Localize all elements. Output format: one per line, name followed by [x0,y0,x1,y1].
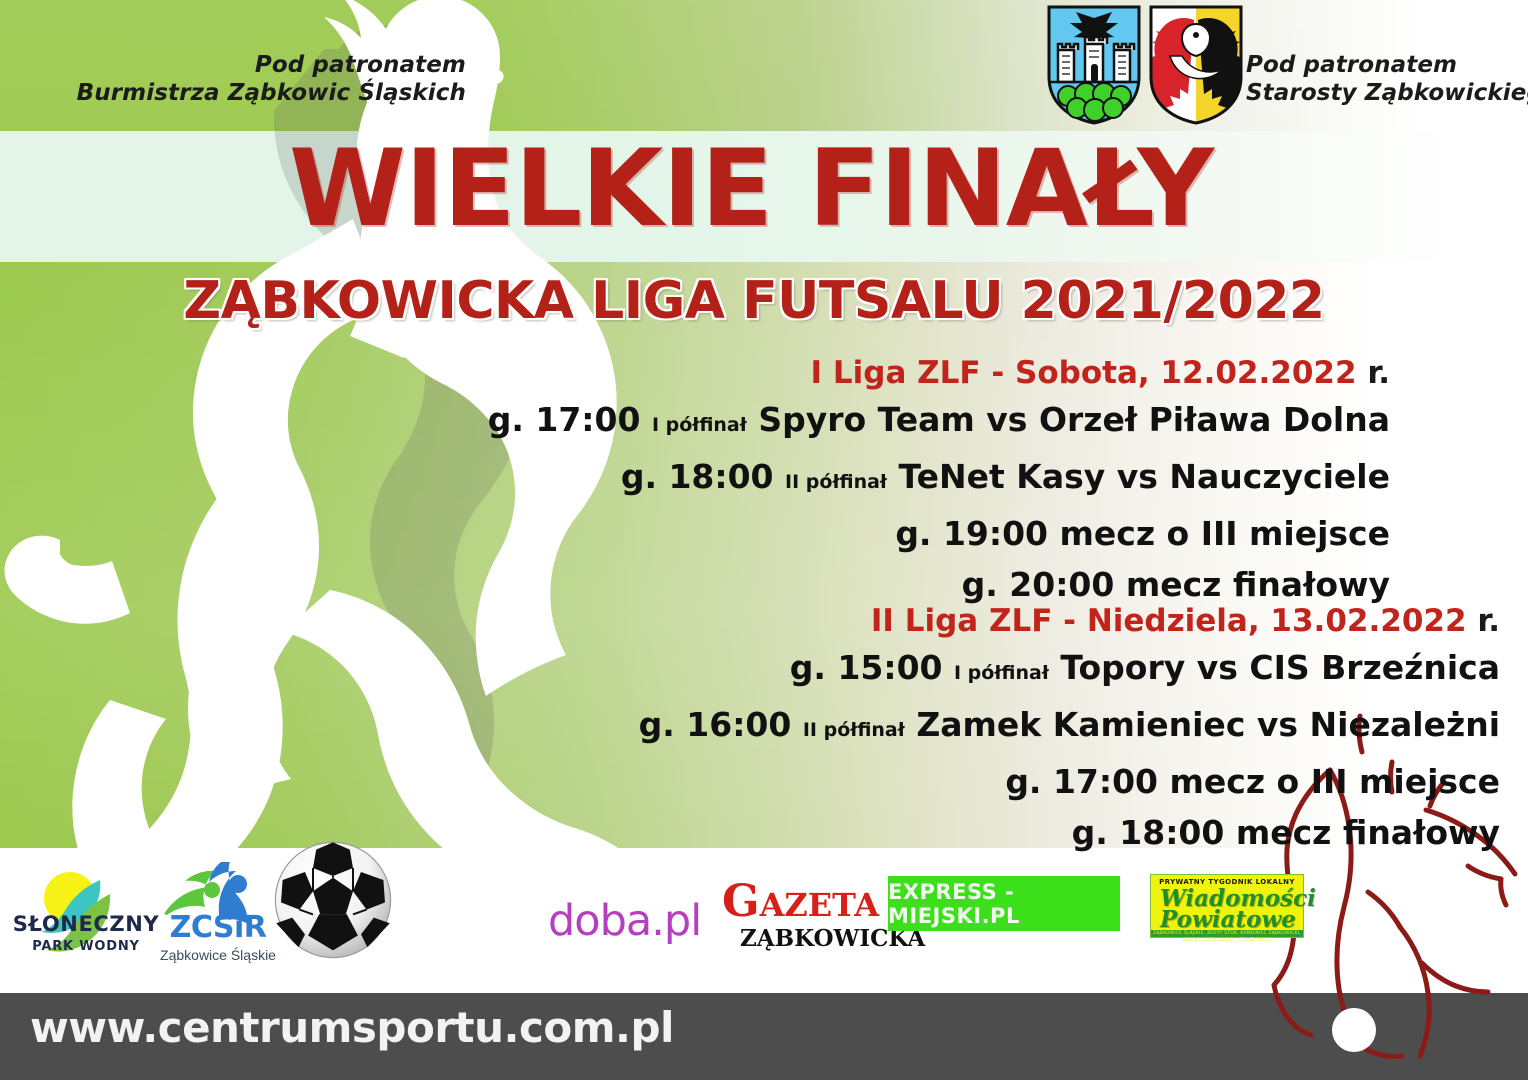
match-stage: I półfinał [652,414,747,436]
league-2-heading-text: II Liga ZLF - Niedziela, 13.02.2022 [871,603,1467,639]
match-time: g. 20:00 [962,565,1115,604]
league-1-heading-tail: r. [1367,355,1390,391]
patronage-left: Pod patronatem Burmistrza Ząbkowic Śląsk… [77,52,466,106]
match-stage: I półfinał [954,662,1049,684]
league-2-heading: II Liga ZLF - Niedziela, 13.02.2022 r. [0,600,1500,642]
match-row: g. 19:00 mecz o III miejsce [0,508,1390,559]
doba-pl-logo[interactable]: doba.pl [548,896,701,946]
page-subtitle: ZĄBKOWICKA LIGA FUTSALU 2021/2022 [0,272,1528,330]
schedule-league-1: I Liga ZLF - Sobota, 12.02.2022 r. g. 17… [0,352,1390,610]
patronage-right-line-2: Starosty Ząbkowickiego [1246,80,1528,106]
schedule-league-2: II Liga ZLF - Niedziela, 13.02.2022 r. g… [0,600,1500,858]
match-row: g. 17:00 mecz o III miejsce [0,756,1500,807]
page-title: WIELKIE FINAŁY [0,133,1528,245]
match-time: g. 19:00 [895,514,1048,553]
patronage-left-line-1: Pod patronatem [255,52,466,78]
match-teams: mecz o III miejsce [1060,514,1390,553]
match-time: g. 17:00 [1005,762,1158,801]
poster-root: Pod patronatem Burmistrza Ząbkowic Śląsk… [0,0,1528,1080]
wiadomosci-footer-text: ZĄBKOWICE ŚLĄSKIE, ZŁOTY STOK, KAMIENIEC… [1151,930,1303,944]
match-time: g. 18:00 [1072,813,1225,852]
gazeta-top-line: GAZETA [722,880,879,924]
patronage-right-line-1: Pod patronatem [1246,52,1528,78]
zcsir-line-2: Ząbkowice Śląskie [148,947,288,963]
coat-of-arms-powiat-icon [1148,4,1244,126]
league-1-heading: I Liga ZLF - Sobota, 12.02.2022 r. [0,352,1390,394]
match-time: g. 15:00 [790,648,943,687]
match-time: g. 16:00 [639,705,792,744]
match-teams: Spyro Team vs Orzeł Piława Dolna [758,400,1390,439]
zcsir-line-1: ZCSiR [148,910,288,945]
footer-ball-dot [1332,1008,1376,1052]
match-teams: TeNet Kasy vs Nauczyciele [898,457,1390,496]
match-teams: Topory vs CIS Brzeźnica [1060,648,1500,687]
express-miejski-label: EXPRESS - MIEJSKI.PL [888,880,1120,928]
wiadomosci-line-2: Powiatowe [1160,906,1296,933]
match-stage: II półfinał [785,471,887,493]
match-row: g. 17:00 I półfinał Spyro Team vs Orzeł … [0,394,1390,451]
match-stage: II półfinał [803,719,905,741]
wiadomosci-powiatowe-logo[interactable]: PRYWATNY TYGODNIK LOKALNY Wiadomości Pow… [1150,874,1304,938]
wiadomosci-footer-bar: ZĄBKOWICE ŚLĄSKIE, ZŁOTY STOK, KAMIENIEC… [1151,930,1303,937]
match-time: g. 17:00 [488,400,641,439]
gazeta-zabkowicka-logo[interactable]: GAZETA ZĄBKOWICKA [722,878,882,953]
crests-group [1046,4,1244,126]
patronage-left-line-2: Burmistrza Ząbkowic Śląskich [77,80,466,106]
sponsor-row: SŁONECZNY PARK WODNY ZCSiR Ząbkowice Ślą… [0,848,1528,993]
match-teams: mecz finałowy [1236,813,1500,852]
sloneczny-park-wodny-label: SŁONECZNY PARK WODNY [10,912,162,954]
match-row: g. 18:00 II półfinał TeNet Kasy vs Naucz… [0,451,1390,508]
match-time: g. 18:00 [621,457,774,496]
patronage-right: Pod patronatem Starosty Ząbkowickiego [1246,52,1528,106]
league-1-heading-text: I Liga ZLF - Sobota, 12.02.2022 [811,355,1357,391]
gazeta-initial: G [722,876,760,927]
match-teams: Zamek Kamieniec vs Niezależni [916,705,1500,744]
match-row: g. 15:00 I półfinał Topory vs CIS Brzeźn… [0,642,1500,699]
match-row: g. 16:00 II półfinał Zamek Kamieniec vs … [0,699,1500,756]
coat-of-arms-zabkowice-icon [1046,4,1142,126]
gazeta-rest: AZETA [760,886,879,924]
match-teams: mecz finałowy [1126,565,1390,604]
express-miejski-logo[interactable]: EXPRESS - MIEJSKI.PL [888,876,1120,931]
league-2-heading-tail: r. [1477,603,1500,639]
sloneczny-line-2: PARK WODNY [10,939,162,954]
website-url[interactable]: www.centrumsportu.com.pl [30,1003,674,1052]
sloneczny-line-1: SŁONECZNY [10,912,162,936]
match-teams: mecz o III miejsce [1170,762,1500,801]
zcsir-label: ZCSiR Ząbkowice Śląskie [148,910,288,963]
